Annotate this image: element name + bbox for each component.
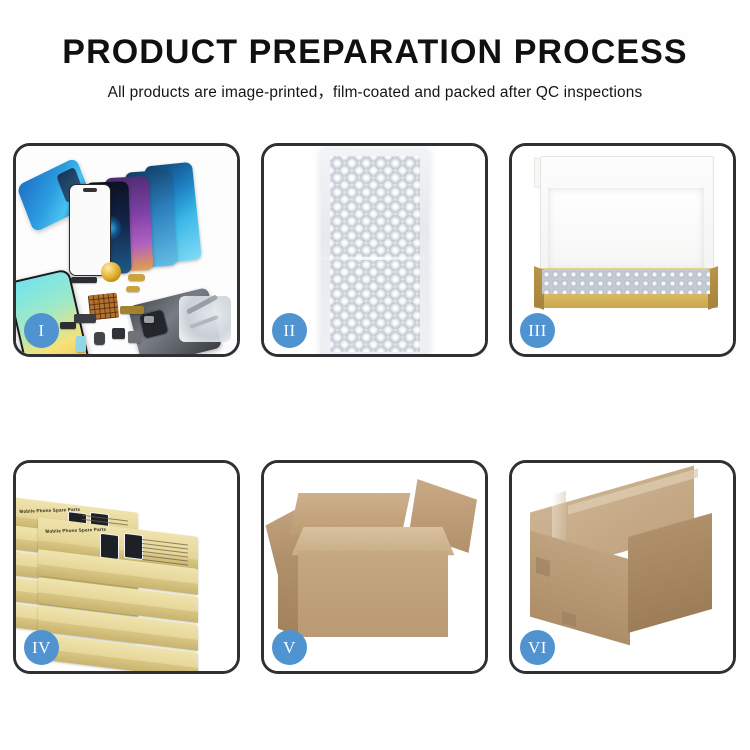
small-part-icon (128, 274, 145, 281)
bubble-pattern-icon (330, 156, 420, 352)
repair-tools-icon (179, 296, 231, 342)
retail-box-label: Mobile Phone Spare Parts (45, 527, 107, 534)
small-part-icon (74, 314, 96, 323)
step-panel-1: I (13, 143, 240, 357)
step-badge-3: III (520, 313, 555, 348)
step-panel-6: VI (509, 460, 736, 674)
phone-glass-panel-icon (69, 184, 111, 276)
small-part-icon (71, 277, 97, 283)
small-part-icon (144, 316, 154, 323)
bubble-wrap-inside-icon (542, 270, 710, 294)
small-part-icon (128, 331, 140, 343)
header: PRODUCT PREPARATION PROCESS All products… (0, 34, 750, 102)
page-title: PRODUCT PREPARATION PROCESS (0, 34, 750, 71)
small-part-icon (126, 286, 140, 292)
step-panel-3: III (509, 143, 736, 357)
step-badge-4: IV (24, 630, 59, 665)
carton-left-face-icon (278, 555, 300, 638)
small-part-icon (76, 336, 86, 352)
carton-front-face-icon (298, 551, 448, 637)
mailer-tray-icon (534, 268, 718, 308)
page-subtitle: All products are image-printed，film-coat… (0, 80, 750, 102)
step-badge-5: V (272, 630, 307, 665)
speaker-module-icon (101, 262, 121, 282)
box-screen-graphic-icon (100, 533, 119, 560)
steps-grid: I II (13, 143, 737, 673)
step-panel-2: II (261, 143, 488, 357)
small-part-icon (112, 328, 125, 339)
step-badge-2: II (272, 313, 307, 348)
product-preparation-infographic: PRODUCT PREPARATION PROCESS All products… (0, 0, 750, 750)
foam-sheet-icon (548, 188, 704, 270)
pouch-seam-icon (321, 257, 429, 260)
step-panel-4: Mobile Phone Spare Parts Mobile Phone Sp… (13, 460, 240, 674)
bubble-wrap-pouch-icon (321, 150, 429, 354)
box-side (38, 648, 198, 671)
small-part-icon (94, 332, 105, 345)
step-badge-1: I (24, 313, 59, 348)
small-part-icon (60, 322, 76, 329)
small-part-icon (120, 306, 144, 314)
box-screen-graphic-icon (124, 533, 143, 560)
step-panel-5: V (261, 460, 488, 674)
step-badge-6: VI (520, 630, 555, 665)
